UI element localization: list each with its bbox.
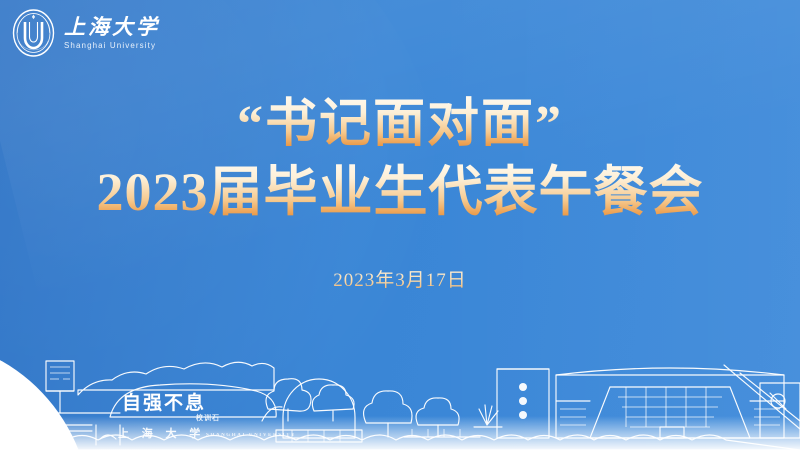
university-name-cn: 上海大学	[64, 17, 160, 38]
skyline-grove-center	[364, 391, 480, 437]
skyline-left-gate	[30, 361, 120, 413]
presentation-slide: 上海大学 Shanghai University “书记面对面” 2023届毕业…	[0, 0, 800, 450]
headline-block: “书记面对面” 2023届毕业生代表午餐会 2023年3月17日	[0, 96, 800, 292]
event-title-line1: “书记面对面”	[0, 96, 800, 154]
motto-subtext: 校训石	[196, 413, 220, 422]
campus-name-cn: 上 海 大 学	[118, 426, 205, 440]
campus-name-engraving: 上 海 大 学 SHANGHAI UNIVERSITY	[118, 426, 296, 440]
event-date: 2023年3月17日	[0, 265, 800, 292]
university-name-block: 上海大学 Shanghai University	[64, 17, 160, 50]
skyline-walkway	[28, 425, 120, 445]
skyline-fountain	[474, 405, 502, 427]
campus-name-en: SHANGHAI UNIVERSITY	[206, 433, 296, 438]
skyline-main-building	[556, 368, 784, 438]
skyline-trees-left	[266, 379, 354, 421]
skyline-library-tower	[497, 369, 549, 438]
university-logo-lockup: 上海大学 Shanghai University	[10, 8, 160, 58]
shanghai-university-emblem-icon	[10, 8, 57, 58]
university-name-en: Shanghai University	[64, 42, 160, 50]
motto-text: 自强不息	[122, 391, 206, 414]
event-title-line2: 2023届毕业生代表午餐会	[0, 160, 800, 225]
campus-skyline-illustration: 自强不息 校训石	[0, 325, 800, 450]
